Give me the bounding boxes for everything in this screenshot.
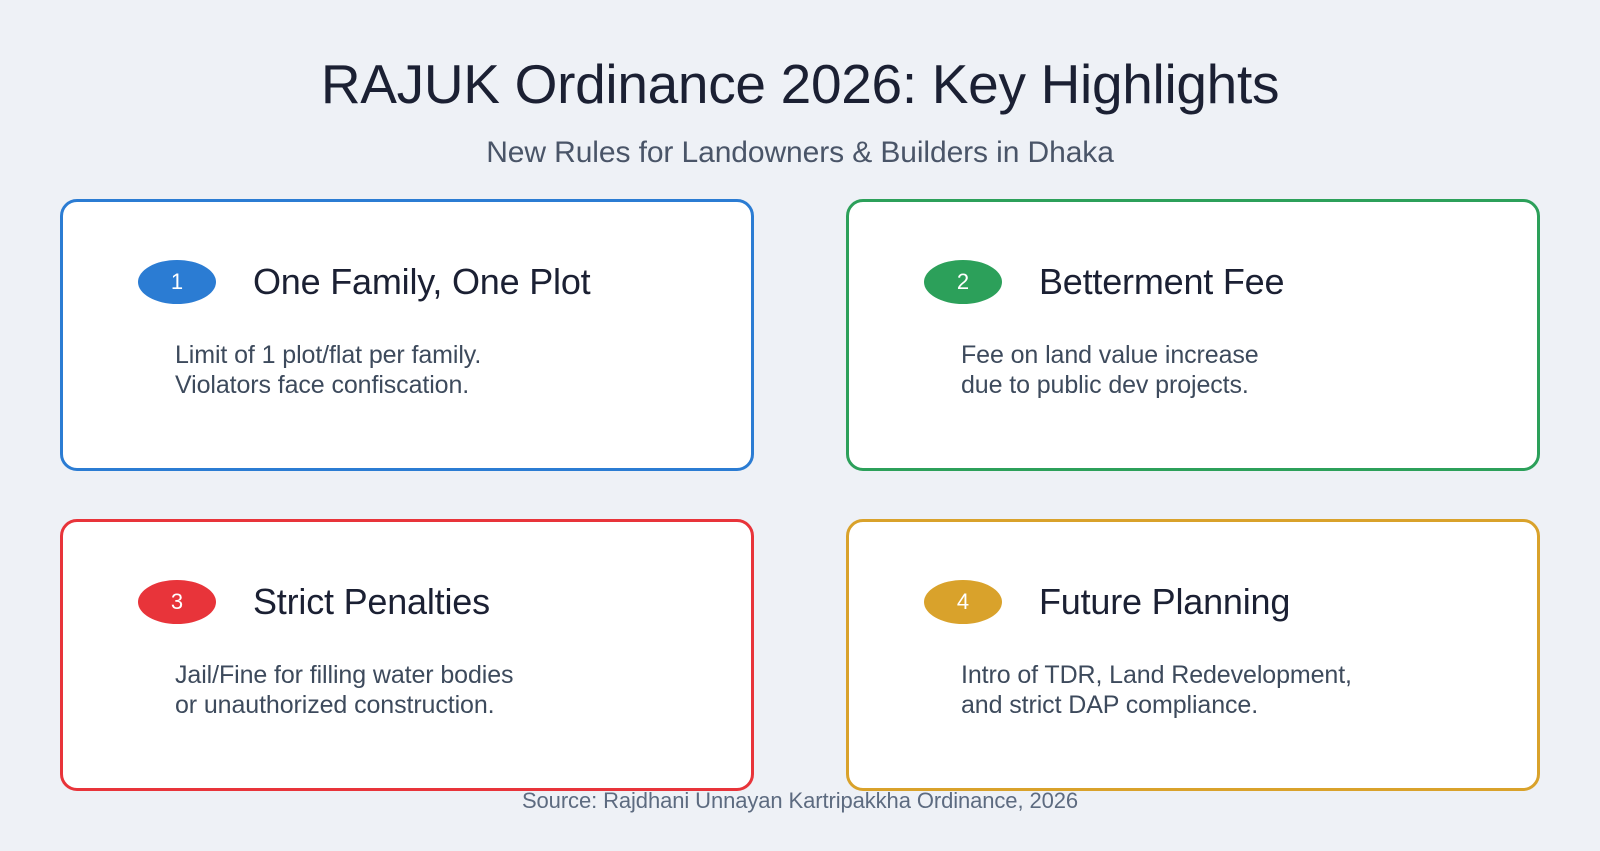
number-badge-icon: 3 bbox=[138, 580, 216, 624]
page-title: RAJUK Ordinance 2026: Key Highlights bbox=[0, 56, 1600, 114]
card-description: Jail/Fine for filling water bodies or un… bbox=[63, 624, 751, 721]
card-title: Strict Penalties bbox=[253, 584, 490, 620]
card-header: 1 One Family, One Plot bbox=[63, 260, 751, 304]
infographic-canvas: RAJUK Ordinance 2026: Key Highlights New… bbox=[0, 0, 1600, 851]
card-title: Betterment Fee bbox=[1039, 264, 1284, 300]
page-subtitle: New Rules for Landowners & Builders in D… bbox=[0, 114, 1600, 169]
number-badge-icon: 4 bbox=[924, 580, 1002, 624]
number-badge-icon: 1 bbox=[138, 260, 216, 304]
highlight-card-future-planning[interactable]: 4 Future Planning Intro of TDR, Land Red… bbox=[846, 519, 1540, 791]
card-header: 2 Betterment Fee bbox=[849, 260, 1537, 304]
card-header: 3 Strict Penalties bbox=[63, 580, 751, 624]
highlight-card-one-family-one-plot[interactable]: 1 One Family, One Plot Limit of 1 plot/f… bbox=[60, 199, 754, 471]
card-description: Intro of TDR, Land Redevelopment, and st… bbox=[849, 624, 1537, 721]
card-title: One Family, One Plot bbox=[253, 264, 590, 300]
header: RAJUK Ordinance 2026: Key Highlights New… bbox=[0, 0, 1600, 169]
highlight-card-strict-penalties[interactable]: 3 Strict Penalties Jail/Fine for filling… bbox=[60, 519, 754, 791]
highlight-card-betterment-fee[interactable]: 2 Betterment Fee Fee on land value incre… bbox=[846, 199, 1540, 471]
source-caption: Source: Rajdhani Unnayan Kartripakkha Or… bbox=[0, 788, 1600, 814]
card-description: Limit of 1 plot/flat per family. Violato… bbox=[63, 304, 751, 401]
number-badge-icon: 2 bbox=[924, 260, 1002, 304]
card-header: 4 Future Planning bbox=[849, 580, 1537, 624]
card-description: Fee on land value increase due to public… bbox=[849, 304, 1537, 401]
card-title: Future Planning bbox=[1039, 584, 1290, 620]
highlight-card-grid: 1 One Family, One Plot Limit of 1 plot/f… bbox=[60, 199, 1540, 791]
